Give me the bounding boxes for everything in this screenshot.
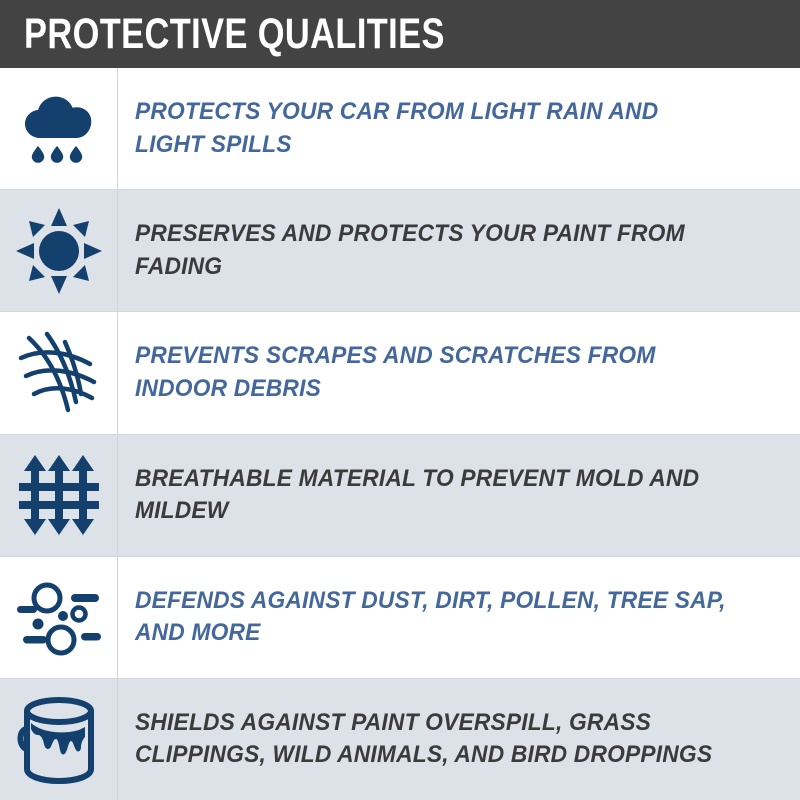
feature-text: SHIELDS AGAINST PAINT OVERSPILL, GRASS C… [135,707,733,772]
icon-cell [0,679,118,800]
icon-cell [0,312,118,433]
text-cell: DEFENDS AGAINST DUST, DIRT, POLLEN, TREE… [118,557,800,678]
feature-row-scratches: PREVENTS SCRAPES AND SCRATCHES FROM INDO… [0,312,800,434]
feature-row-sun: PRESERVES AND PROTECTS YOUR PAINT FROM F… [0,190,800,312]
feature-text: DEFENDS AGAINST DUST, DIRT, POLLEN, TREE… [135,585,733,650]
scratch-mesh-icon [16,328,102,418]
paint-can-icon [17,693,101,785]
feature-row-dust: DEFENDS AGAINST DUST, DIRT, POLLEN, TREE… [0,557,800,679]
icon-cell [0,68,118,189]
icon-cell [0,435,118,556]
sun-icon [14,206,104,296]
text-cell: PREVENTS SCRAPES AND SCRATCHES FROM INDO… [118,312,800,433]
feature-row-paint: SHIELDS AGAINST PAINT OVERSPILL, GRASS C… [0,679,800,800]
breathable-arrows-icon [15,453,103,537]
dust-particles-icon [13,575,105,659]
feature-rows: PROTECTS YOUR CAR FROM LIGHT RAIN AND LI… [0,68,800,800]
header-bar: PROTECTIVE QUALITIES [0,0,800,68]
feature-text: PROTECTS YOUR CAR FROM LIGHT RAIN AND LI… [135,96,733,161]
text-cell: PRESERVES AND PROTECTS YOUR PAINT FROM F… [118,190,800,311]
page-title: PROTECTIVE QUALITIES [24,13,445,56]
text-cell: SHIELDS AGAINST PAINT OVERSPILL, GRASS C… [118,679,800,800]
text-cell: BREATHABLE MATERIAL TO PREVENT MOLD AND … [118,435,800,556]
feature-row-rain: PROTECTS YOUR CAR FROM LIGHT RAIN AND LI… [0,68,800,190]
protective-qualities-infographic: PROTECTIVE QUALITIES PROTEC [0,0,800,800]
feature-text: PRESERVES AND PROTECTS YOUR PAINT FROM F… [135,218,733,283]
icon-cell [0,557,118,678]
feature-text: BREATHABLE MATERIAL TO PREVENT MOLD AND … [135,463,733,528]
feature-text: PREVENTS SCRAPES AND SCRATCHES FROM INDO… [135,340,733,405]
text-cell: PROTECTS YOUR CAR FROM LIGHT RAIN AND LI… [118,68,800,189]
rain-cloud-icon [16,86,102,172]
feature-row-breathable: BREATHABLE MATERIAL TO PREVENT MOLD AND … [0,435,800,557]
icon-cell [0,190,118,311]
